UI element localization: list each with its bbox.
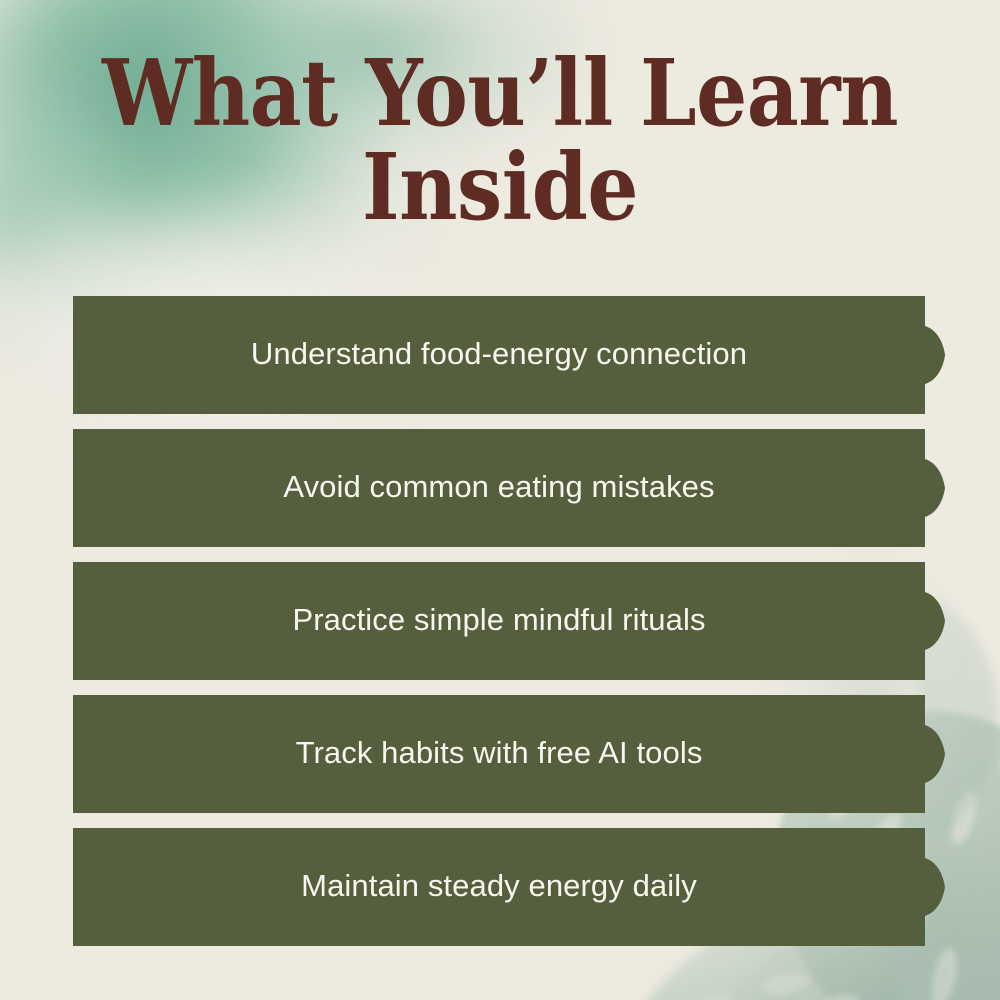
learn-items-list: Understand food-energy connection Avoid … bbox=[0, 296, 1000, 961]
banner-body[interactable]: Practice simple mindful rituals bbox=[73, 562, 925, 680]
list-item-label: Maintain steady energy daily bbox=[301, 868, 697, 904]
poster-canvas: What You’ll Learn Inside Understand food… bbox=[0, 0, 1000, 1000]
list-item[interactable]: Understand food-energy connection bbox=[0, 296, 1000, 414]
page-title: What You’ll Learn Inside bbox=[0, 48, 1000, 232]
list-item-label: Avoid common eating mistakes bbox=[283, 469, 714, 505]
list-item[interactable]: Track habits with free AI tools bbox=[0, 695, 1000, 813]
ribbon-point-icon bbox=[925, 828, 947, 946]
ribbon-point-icon bbox=[925, 562, 947, 680]
banner-body[interactable]: Maintain steady energy daily bbox=[73, 828, 925, 946]
ribbon-point-icon bbox=[925, 695, 947, 813]
ribbon-point-icon bbox=[925, 296, 947, 414]
list-item-label: Practice simple mindful rituals bbox=[292, 602, 705, 638]
list-item-label: Track habits with free AI tools bbox=[296, 735, 703, 771]
ribbon-point-icon bbox=[925, 429, 947, 547]
list-item[interactable]: Practice simple mindful rituals bbox=[0, 562, 1000, 680]
page-title-line-2: Inside bbox=[15, 142, 985, 232]
banner-body[interactable]: Understand food-energy connection bbox=[73, 296, 925, 414]
page-title-line-1: What You’ll Learn bbox=[15, 48, 985, 138]
banner-body[interactable]: Avoid common eating mistakes bbox=[73, 429, 925, 547]
list-item-label: Understand food-energy connection bbox=[251, 336, 747, 372]
banner-body[interactable]: Track habits with free AI tools bbox=[73, 695, 925, 813]
list-item[interactable]: Maintain steady energy daily bbox=[0, 828, 1000, 946]
list-item[interactable]: Avoid common eating mistakes bbox=[0, 429, 1000, 547]
